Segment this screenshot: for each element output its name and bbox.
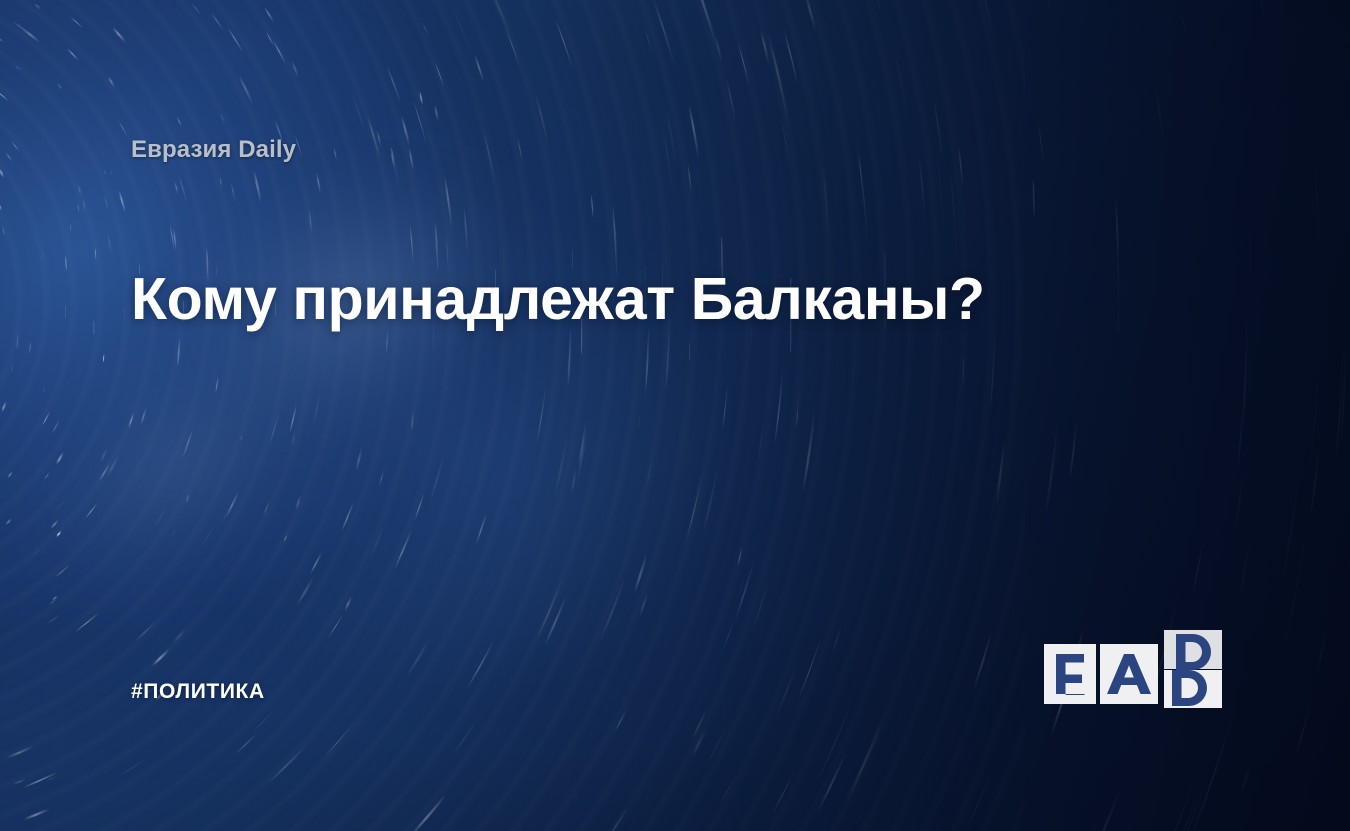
brand-name: Евразия Daily bbox=[131, 136, 296, 164]
logo-tile-e bbox=[1044, 644, 1096, 704]
article-headline: Кому принадлежат Балканы? bbox=[131, 266, 1131, 332]
category-tag[interactable]: #ПОЛИТИКА bbox=[131, 680, 265, 704]
article-share-card: Евразия Daily Кому принадлежат Балканы? … bbox=[0, 0, 1350, 831]
card-content: Евразия Daily Кому принадлежат Балканы? … bbox=[0, 0, 1350, 831]
logo-tile-a bbox=[1100, 644, 1158, 704]
eadaily-logo bbox=[1044, 630, 1224, 708]
logo-tile-d-lower bbox=[1164, 670, 1222, 708]
logo-tile-d-upper bbox=[1164, 630, 1222, 670]
